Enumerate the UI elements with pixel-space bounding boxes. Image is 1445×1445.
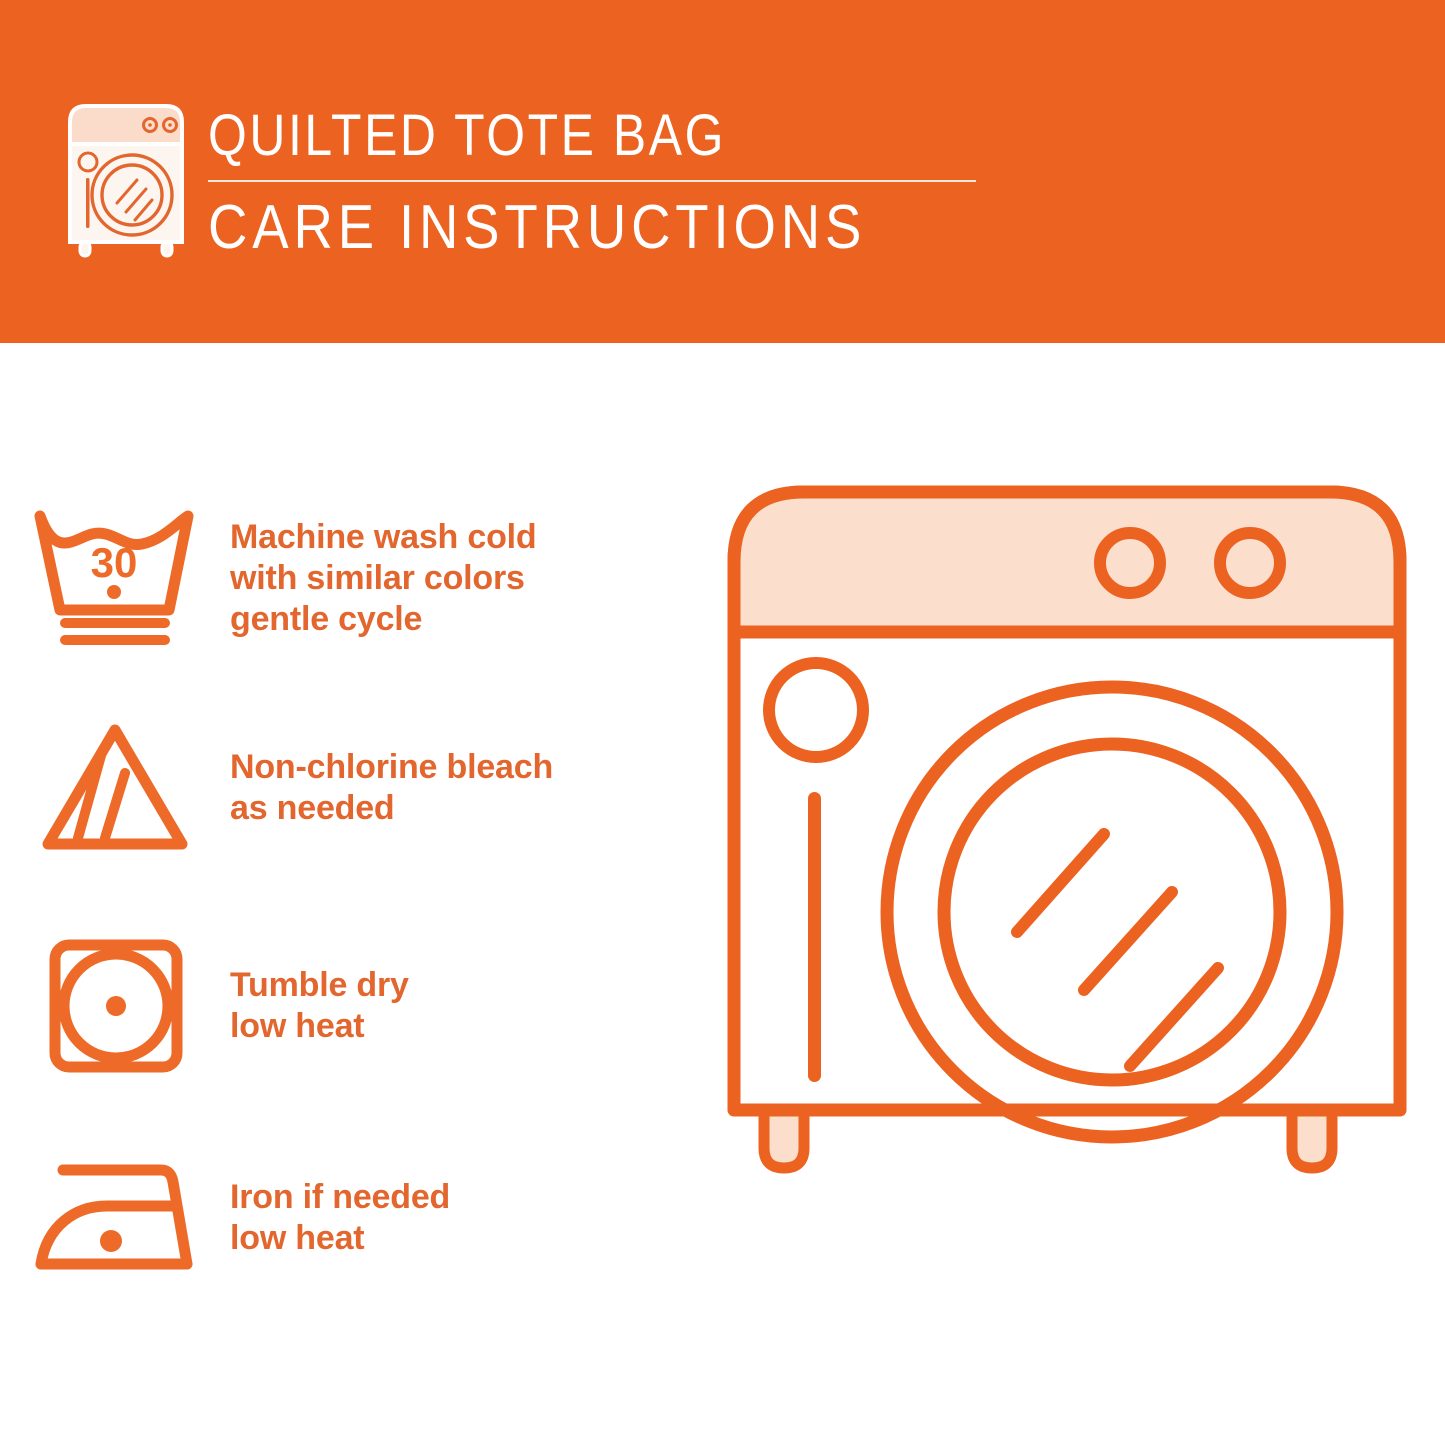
care-row-tumble-dry: Tumble dry low heat <box>0 921 700 1091</box>
iron-low-heat-icon <box>0 1148 230 1288</box>
care-text-tumble-dry: Tumble dry low heat <box>230 965 419 1047</box>
wash-tub-30-gentle-icon: 30 <box>0 504 230 652</box>
page-title: QUILTED TOTE BAG <box>208 104 887 168</box>
header-text-block: QUILTED TOTE BAG CARE INSTRUCTIONS <box>208 104 998 262</box>
vertical-handle-bar <box>808 792 821 1082</box>
care-row-iron: Iron if needed low heat <box>0 1133 700 1303</box>
tumble-dry-low-icon <box>0 931 230 1081</box>
header-banner: QUILTED TOTE BAG CARE INSTRUCTIONS <box>0 0 1445 343</box>
care-row-bleach: Non-chlorine bleach as needed <box>0 703 700 873</box>
care-text-bleach: Non-chlorine bleach as needed <box>230 747 563 829</box>
care-instruction-list: 30 Machine wash cold with similar colors… <box>0 343 700 1445</box>
page-subtitle: CARE INSTRUCTIONS <box>208 194 903 262</box>
title-divider <box>208 180 976 182</box>
non-chlorine-bleach-triangle-icon <box>0 718 230 858</box>
large-washing-machine-illustration <box>712 462 1422 1372</box>
care-text-iron: Iron if needed low heat <box>230 1177 460 1259</box>
svg-text:30: 30 <box>91 539 138 586</box>
care-text-machine-wash: Machine wash cold with similar colors ge… <box>230 517 546 640</box>
care-row-machine-wash: 30 Machine wash cold with similar colors… <box>0 493 700 663</box>
washing-machine-icon <box>62 100 190 260</box>
care-instructions-page: QUILTED TOTE BAG CARE INSTRUCTIONS 30 Ma… <box>0 0 1445 1445</box>
